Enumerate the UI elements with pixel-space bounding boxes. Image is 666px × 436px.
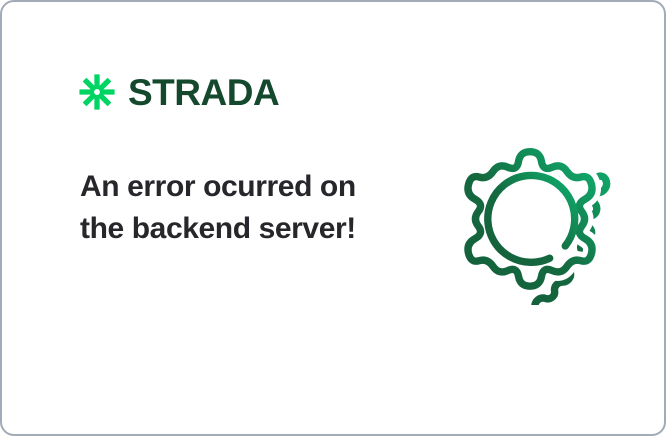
brand-lockup: STRADA	[78, 70, 279, 114]
gear-cog-icon	[448, 141, 612, 305]
error-card: STRADA An error ocurred on the backend s…	[0, 0, 666, 436]
brand-name: STRADA	[128, 74, 279, 111]
asterisk-star-icon	[78, 73, 116, 111]
error-message: An error ocurred on the backend server!	[80, 166, 370, 250]
